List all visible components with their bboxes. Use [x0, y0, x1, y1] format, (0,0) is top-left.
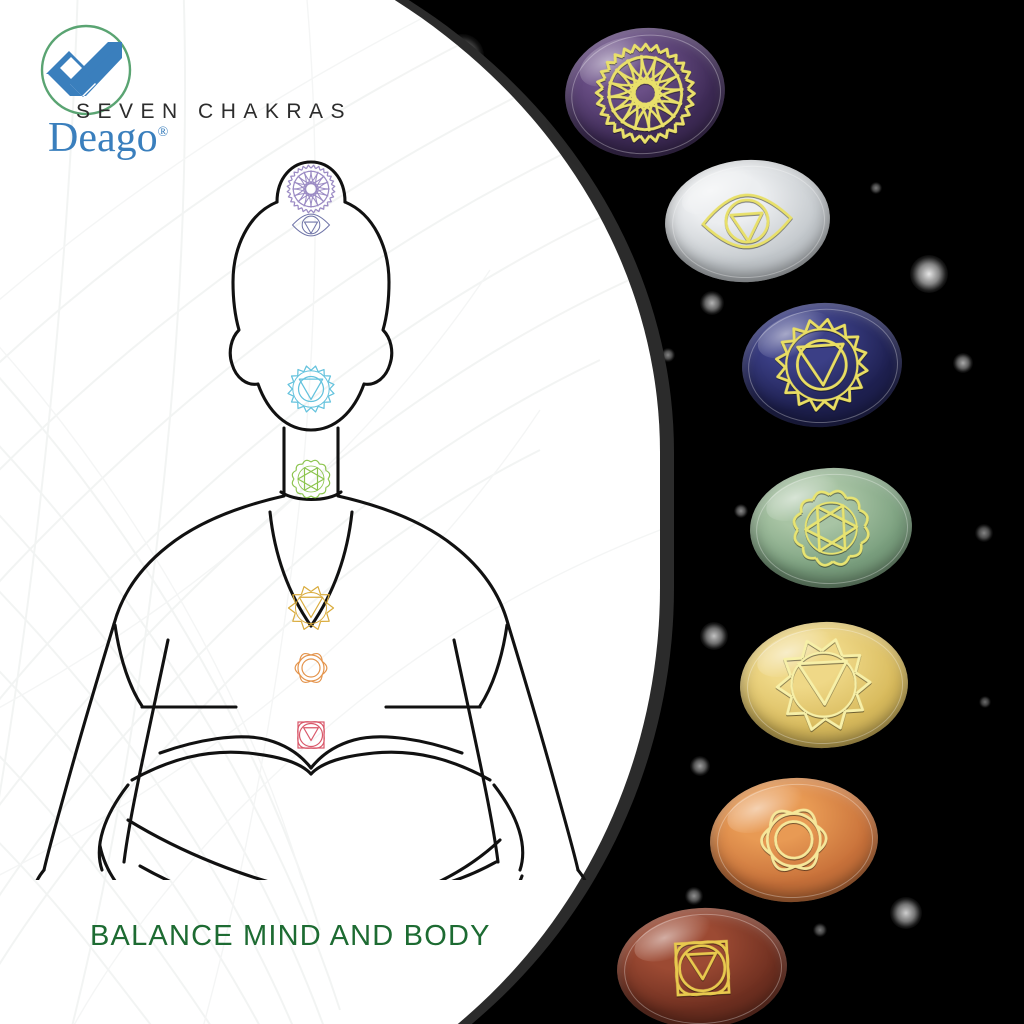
chakra-stone-root[interactable] [614, 904, 790, 1024]
chakra-stone-throat[interactable] [738, 298, 906, 433]
brand-name-label: Deago [48, 115, 158, 161]
meditating-figure [0, 140, 620, 880]
registered-mark-icon: ® [158, 125, 169, 140]
stone-engraved-symbol-two-petal-eye [694, 168, 801, 275]
tagline-text: BALANCE MIND AND BODY [90, 920, 491, 953]
figure-chakra-heart [286, 454, 336, 504]
chakra-stone-third-eye[interactable] [661, 154, 834, 287]
brand-name-text: Deago® [48, 114, 168, 162]
figure-chakra-root [286, 710, 336, 760]
stone-engraved-symbol-four-petal-square [650, 916, 753, 1019]
figure-chakra-solar-plexus [286, 583, 336, 633]
chakra-stone-crown[interactable] [559, 20, 732, 166]
figure-chakra-throat [285, 363, 337, 415]
figure-chakra-third-eye [290, 204, 332, 246]
figure-line-art [0, 140, 620, 880]
chakra-stone-sacral[interactable] [707, 774, 881, 907]
stone-engraved-symbol-twelve-petal-lotus [779, 476, 882, 579]
figure-chakra-sacral [286, 643, 336, 693]
brand-logo[interactable]: SEVEN CHAKRAS Deago® [26, 18, 346, 148]
poster-canvas: SEVEN CHAKRAS Deago® BALANCE MIND AND BO… [0, 0, 1024, 1024]
chakra-stone-heart[interactable] [747, 464, 915, 592]
stone-engraved-symbol-thousand-petal-lotus [586, 34, 703, 151]
stone-engraved-symbol-sixteen-petal-lotus [768, 311, 877, 420]
stone-engraved-symbol-six-petal-lotus [741, 787, 848, 894]
chakra-stone-solar-plexus[interactable] [737, 618, 911, 753]
stone-engraved-symbol-ten-petal-lotus [770, 631, 879, 740]
